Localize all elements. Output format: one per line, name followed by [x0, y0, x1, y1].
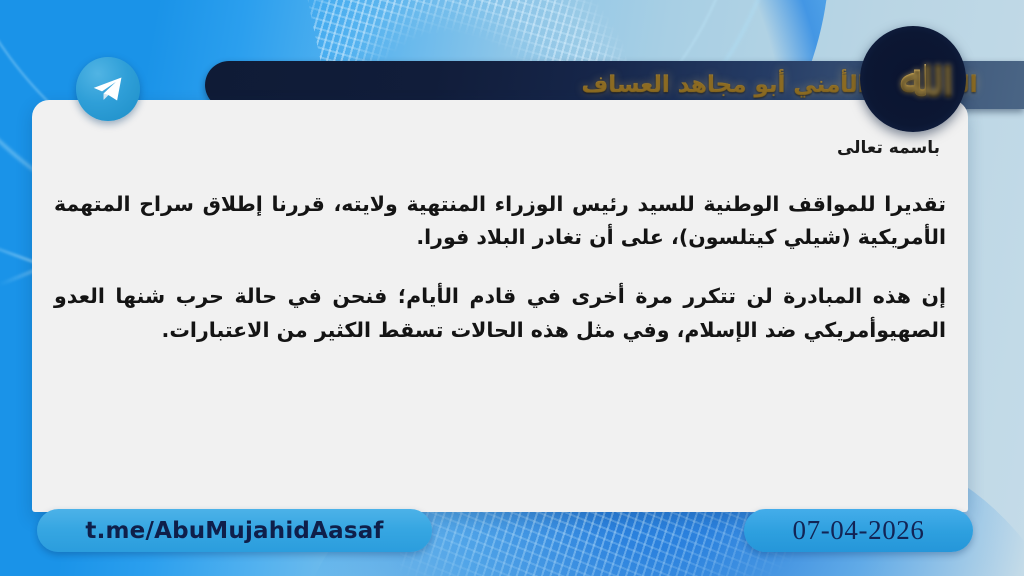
telegram-icon[interactable] [76, 57, 140, 121]
basmala-text: باسمه تعالى [837, 138, 940, 158]
telegram-paper-plane-icon [89, 70, 127, 108]
allahu-akbar-calligraphy-icon: ﷲ [900, 53, 926, 105]
organization-logo: ﷲ [860, 26, 966, 132]
channel-link-badge[interactable]: t.me/AbuMujahidAasaf [37, 509, 432, 552]
date-badge: 07-04-2026 [744, 509, 973, 552]
statement-paragraph-2: إن هذه المبادرة لن تتكرر مرة أخرى في قاد… [54, 280, 946, 346]
date-label: 07-04-2026 [793, 515, 925, 546]
statement-card: باسمه تعالى تقديرا للمواقف الوطنية للسيد… [32, 100, 968, 512]
statement-body: تقديرا للمواقف الوطنية للسيد رئيس الوزرا… [54, 188, 946, 347]
channel-link-label: t.me/AbuMujahidAasaf [85, 518, 383, 544]
statement-paragraph-1: تقديرا للمواقف الوطنية للسيد رئيس الوزرا… [54, 188, 946, 254]
statement-graphic: المسؤول الأمني أبو مجاهد العساف ﷲ باسمه … [0, 0, 1024, 576]
